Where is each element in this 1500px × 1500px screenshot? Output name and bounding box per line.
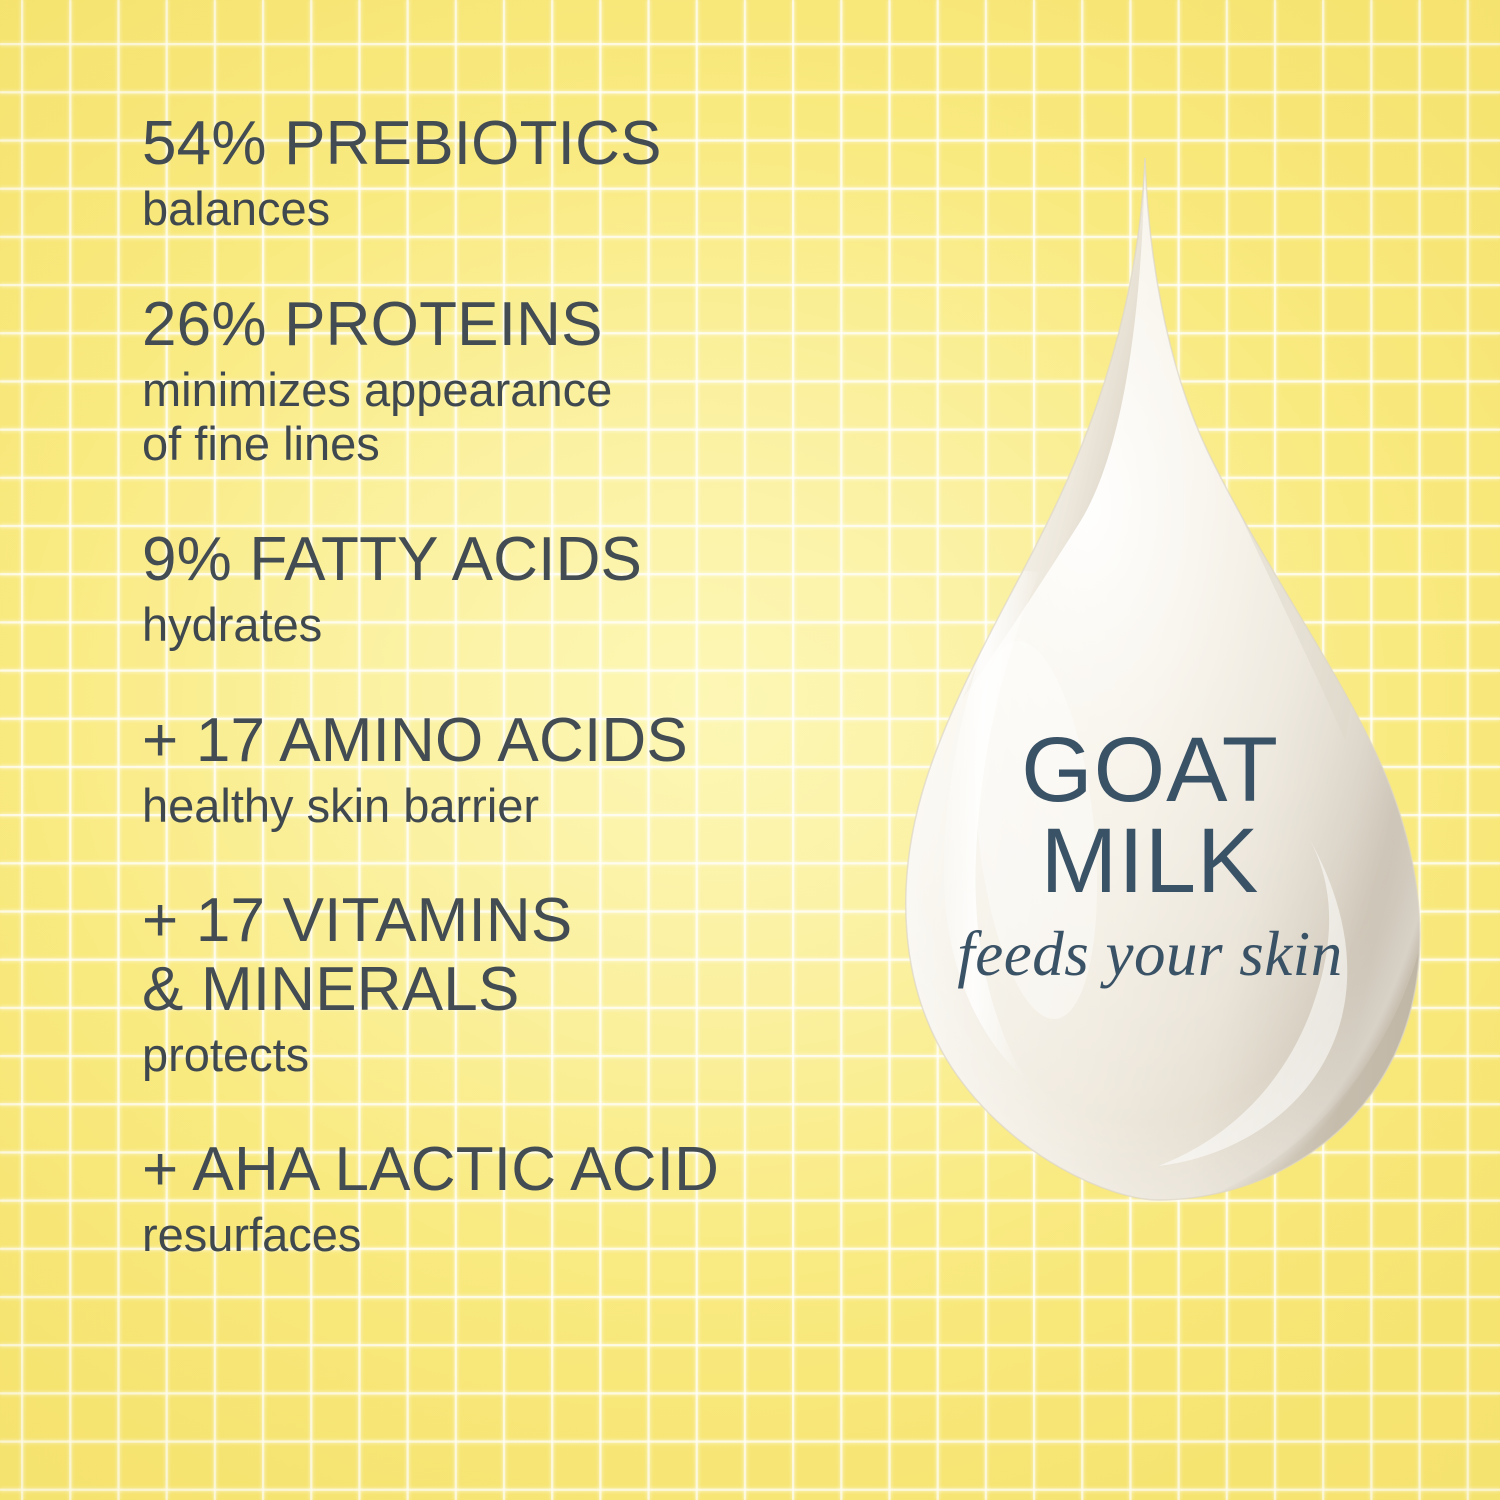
fact-item-fatty-acids: 9% FATTY ACIDS hydrates [142,526,862,653]
fact-title: + 17 VITAMINS & MINERALS [142,887,862,1023]
fact-subtitle: balances [142,182,862,237]
fact-item-aha-lactic-acid: + AHA LACTIC ACID resurfaces [142,1136,862,1263]
fact-subtitle: protects [142,1028,862,1083]
fact-title: + 17 AMINO ACIDS [142,707,862,775]
infographic-canvas: 54% PREBIOTICS balances 26% PROTEINS min… [0,0,1500,1500]
ingredient-facts-list: 54% PREBIOTICS balances 26% PROTEINS min… [142,110,862,1263]
fact-title: 54% PREBIOTICS [142,110,862,178]
fact-item-vitamins-minerals: + 17 VITAMINS & MINERALS protects [142,887,862,1082]
fact-item-amino-acids: + 17 AMINO ACIDS healthy skin barrier [142,707,862,834]
fact-subtitle: resurfaces [142,1208,862,1263]
fact-title: 9% FATTY ACIDS [142,526,862,594]
milk-droplet-graphic: GOAT MILK feeds your skin [840,140,1460,1220]
droplet-icon [840,140,1460,1220]
fact-title: + AHA LACTIC ACID [142,1136,862,1204]
fact-subtitle: hydrates [142,598,862,653]
fact-title: 26% PROTEINS [142,291,862,359]
fact-item-prebiotics: 54% PREBIOTICS balances [142,110,862,237]
fact-item-proteins: 26% PROTEINS minimizes appearance of fin… [142,291,862,472]
droplet-body [840,140,1460,1220]
fact-subtitle: minimizes appearance of fine lines [142,363,862,472]
fact-subtitle: healthy skin barrier [142,779,862,834]
